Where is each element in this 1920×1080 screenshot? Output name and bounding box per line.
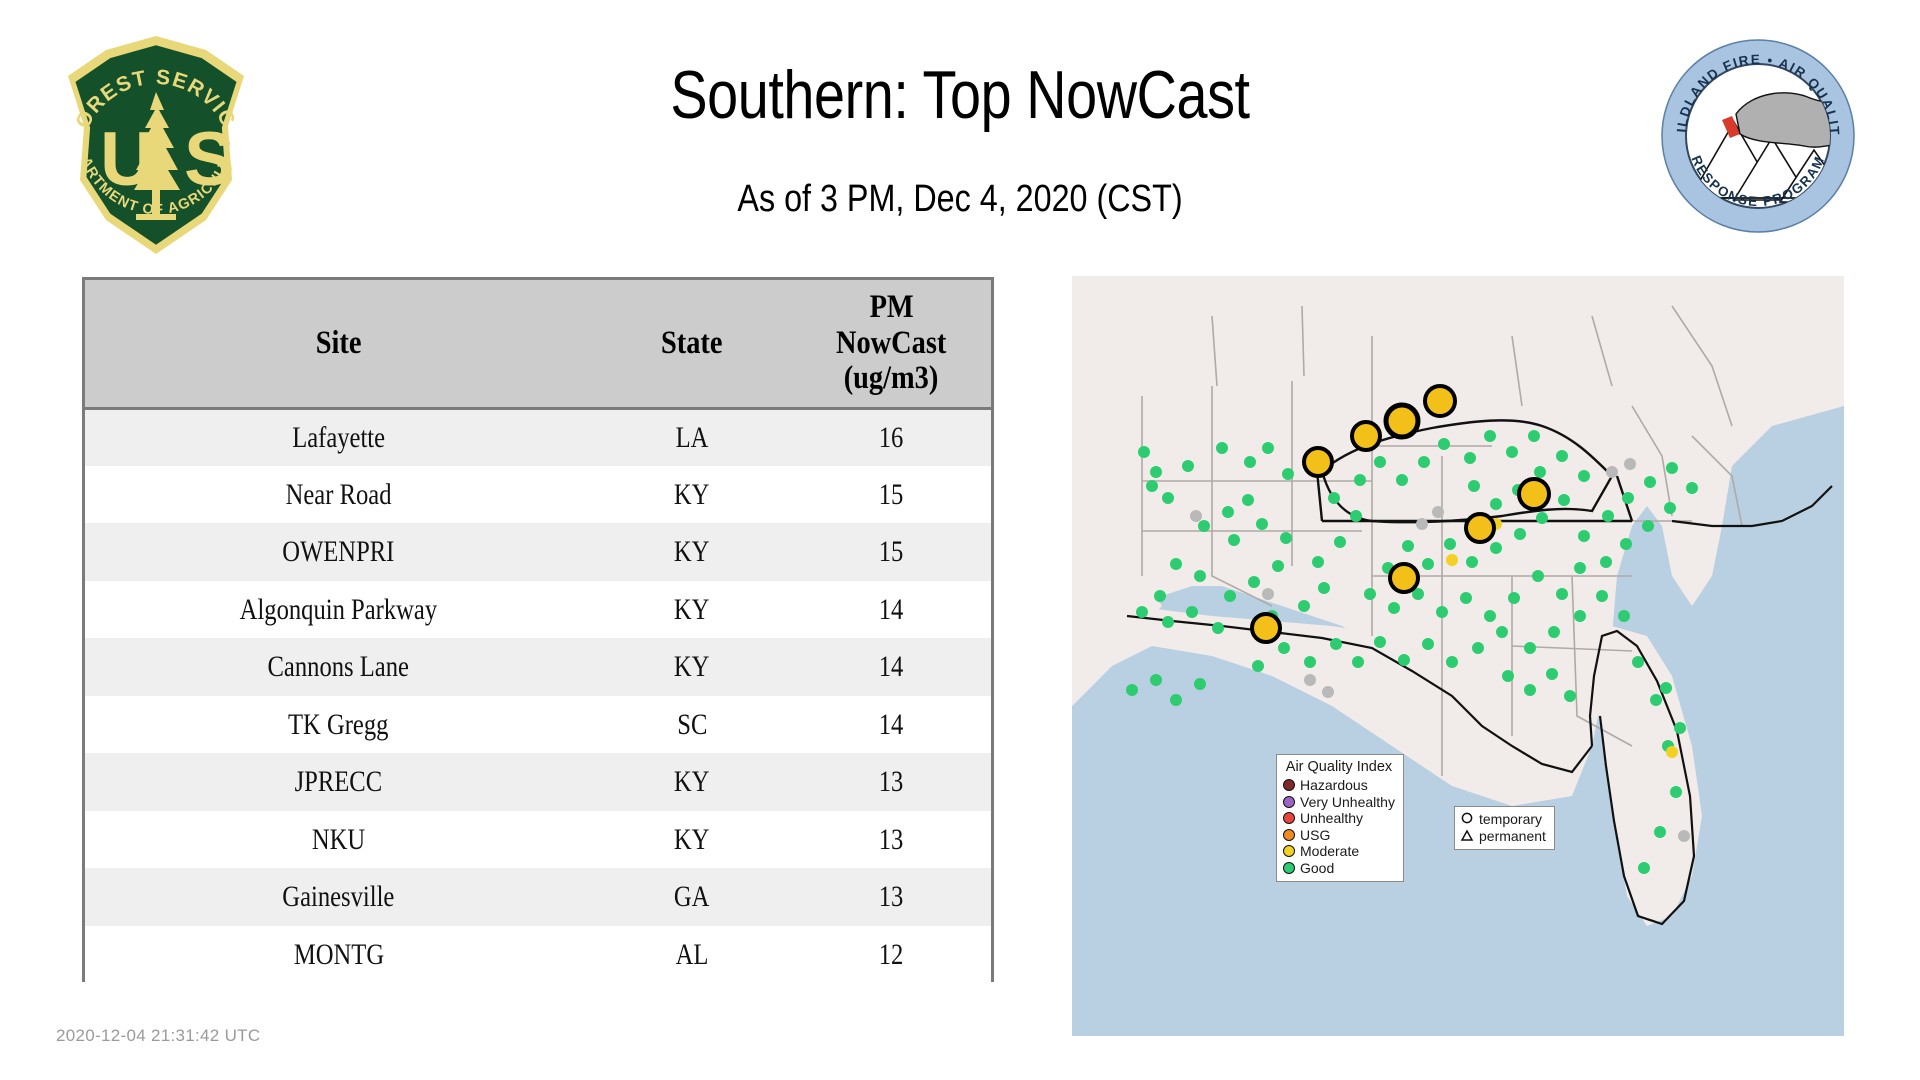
cell-value: 15	[792, 466, 991, 524]
table-row: Gainesville GA 13	[85, 868, 991, 926]
cell-value: 13	[792, 868, 991, 926]
column-header-pm-line3: (ug/m3)	[844, 361, 939, 397]
table-header: Site State PM NowCast (ug/m3)	[85, 280, 991, 408]
top-nowcast-table-container: Site State PM NowCast (ug/m3) Lafayette …	[82, 277, 994, 982]
aqi-dot-good	[1283, 862, 1295, 874]
site-value: Lafayette	[292, 421, 385, 455]
aqi-label: Unhealthy	[1300, 810, 1363, 827]
aqi-label: Very Unhealthy	[1300, 794, 1395, 811]
site-value: OWENPRI	[283, 535, 395, 569]
state-value: KY	[674, 593, 710, 627]
site-value: Gainesville	[283, 880, 395, 914]
aqi-legend: Air Quality Index Hazardous Very Unhealt…	[1276, 754, 1404, 882]
cell-site: TK Gregg	[85, 696, 592, 754]
cell-site: NKU	[85, 811, 592, 869]
nowcast-value: 13	[879, 823, 904, 857]
table-body: Lafayette LA 16 Near Road KY 15 OWENPRI …	[85, 408, 991, 983]
cell-value: 12	[792, 926, 991, 984]
cell-state: LA	[592, 408, 791, 466]
table-header-row: Site State PM NowCast (ug/m3)	[85, 280, 991, 408]
page-title: Southern: Top NowCast	[173, 56, 1747, 134]
site-value: Algonquin Parkway	[240, 593, 437, 627]
cell-state: GA	[592, 868, 791, 926]
state-value: LA	[676, 421, 709, 455]
cell-value: 14	[792, 581, 991, 639]
triangle-outline-icon	[1460, 829, 1474, 843]
column-header-pm-nowcast: PM NowCast (ug/m3)	[792, 280, 991, 408]
cell-site: Lafayette	[85, 408, 592, 466]
cell-value: 16	[792, 408, 991, 466]
cell-value: 14	[792, 638, 991, 696]
aqi-label: Moderate	[1300, 843, 1359, 860]
cell-value: 13	[792, 811, 991, 869]
footer-timestamp: 2020-12-04 21:31:42 UTC	[56, 1026, 260, 1046]
cell-site: Cannons Lane	[85, 638, 592, 696]
table-row: Lafayette LA 16	[85, 408, 991, 466]
wfaqrp-seal-logo: WILDLAND FIRE • AIR QUALITY RESPONSE PRO…	[1660, 38, 1856, 234]
state-value: KY	[674, 823, 710, 857]
column-header-state: State	[592, 280, 791, 408]
table-row: MONTG AL 12	[85, 926, 991, 984]
column-header-pm-line2: NowCast	[836, 326, 946, 362]
aqi-label: USG	[1300, 827, 1330, 844]
state-value: GA	[674, 880, 710, 914]
state-value: AL	[676, 938, 709, 972]
cell-state: AL	[592, 926, 791, 984]
aqi-dot-unhealthy	[1283, 812, 1295, 824]
site-value: NKU	[312, 823, 365, 857]
site-value: JPRECC	[295, 765, 383, 799]
state-value: KY	[674, 765, 710, 799]
cell-site: JPRECC	[85, 753, 592, 811]
state-value: KY	[674, 650, 710, 684]
aqi-legend-item: USG	[1283, 827, 1395, 844]
site-value: Cannons Lane	[268, 650, 409, 684]
map-canvas	[1072, 276, 1844, 1036]
page-subtitle-timestamp: As of 3 PM, Dec 4, 2020 (CST)	[144, 178, 1776, 221]
monitor-type-label: temporary	[1479, 811, 1542, 828]
cell-value: 14	[792, 696, 991, 754]
site-value: MONTG	[294, 938, 384, 972]
cell-site: Algonquin Parkway	[85, 581, 592, 639]
site-value: TK Gregg	[288, 708, 388, 742]
aqi-dot-hazardous	[1283, 779, 1295, 791]
aqi-legend-item: Good	[1283, 860, 1395, 877]
monitor-type-item: permanent	[1460, 828, 1546, 845]
aqi-legend-item: Unhealthy	[1283, 810, 1395, 827]
table-row: OWENPRI KY 15	[85, 523, 991, 581]
site-value: Near Road	[286, 478, 392, 512]
aqi-label: Good	[1300, 860, 1334, 877]
table-row: NKU KY 13	[85, 811, 991, 869]
cell-state: KY	[592, 581, 791, 639]
table-row: Algonquin Parkway KY 14	[85, 581, 991, 639]
nowcast-value: 16	[879, 421, 904, 455]
column-header-state-label: State	[661, 326, 722, 362]
cell-state: KY	[592, 638, 791, 696]
aqi-dot-very-unhealthy	[1283, 796, 1295, 808]
column-header-site-label: Site	[316, 326, 362, 362]
cell-site: Gainesville	[85, 868, 592, 926]
nowcast-value: 12	[879, 938, 904, 972]
state-value: SC	[677, 708, 707, 742]
air-quality-map[interactable]: Air Quality Index Hazardous Very Unhealt…	[1072, 276, 1844, 1036]
aqi-legend-item: Hazardous	[1283, 777, 1395, 794]
column-header-site: Site	[85, 280, 592, 408]
nowcast-value: 14	[879, 708, 904, 742]
table-row: TK Gregg SC 14	[85, 696, 991, 754]
nowcast-value: 14	[879, 593, 904, 627]
aqi-label: Hazardous	[1300, 777, 1368, 794]
cell-site: MONTG	[85, 926, 592, 984]
aqi-dot-moderate	[1283, 845, 1295, 857]
nowcast-value: 15	[879, 535, 904, 569]
column-header-pm-line1: PM	[869, 290, 913, 326]
cell-value: 13	[792, 753, 991, 811]
cell-state: KY	[592, 523, 791, 581]
aqi-legend-item: Moderate	[1283, 843, 1395, 860]
cell-state: KY	[592, 811, 791, 869]
state-value: KY	[674, 478, 710, 512]
table-row: JPRECC KY 13	[85, 753, 991, 811]
aqi-dot-usg	[1283, 829, 1295, 841]
cell-state: KY	[592, 753, 791, 811]
nowcast-value: 14	[879, 650, 904, 684]
cell-site: OWENPRI	[85, 523, 592, 581]
aqi-legend-title: Air Quality Index	[1283, 759, 1395, 775]
monitor-type-legend: temporary permanent	[1454, 806, 1555, 850]
cell-state: KY	[592, 466, 791, 524]
table-row: Near Road KY 15	[85, 466, 991, 524]
nowcast-value: 15	[879, 478, 904, 512]
cell-value: 15	[792, 523, 991, 581]
nowcast-value: 13	[879, 880, 904, 914]
top-nowcast-table: Site State PM NowCast (ug/m3) Lafayette …	[85, 280, 991, 983]
aqi-legend-item: Very Unhealthy	[1283, 794, 1395, 811]
circle-outline-icon	[1460, 812, 1474, 826]
monitor-type-label: permanent	[1479, 828, 1546, 845]
slide-root: FOREST SERVICE DEPARTMENT OF AGRICULTURE…	[0, 0, 1920, 1080]
table-row: Cannons Lane KY 14	[85, 638, 991, 696]
monitor-type-item: temporary	[1460, 811, 1546, 828]
nowcast-value: 13	[879, 765, 904, 799]
state-value: KY	[674, 535, 710, 569]
cell-state: SC	[592, 696, 791, 754]
cell-site: Near Road	[85, 466, 592, 524]
